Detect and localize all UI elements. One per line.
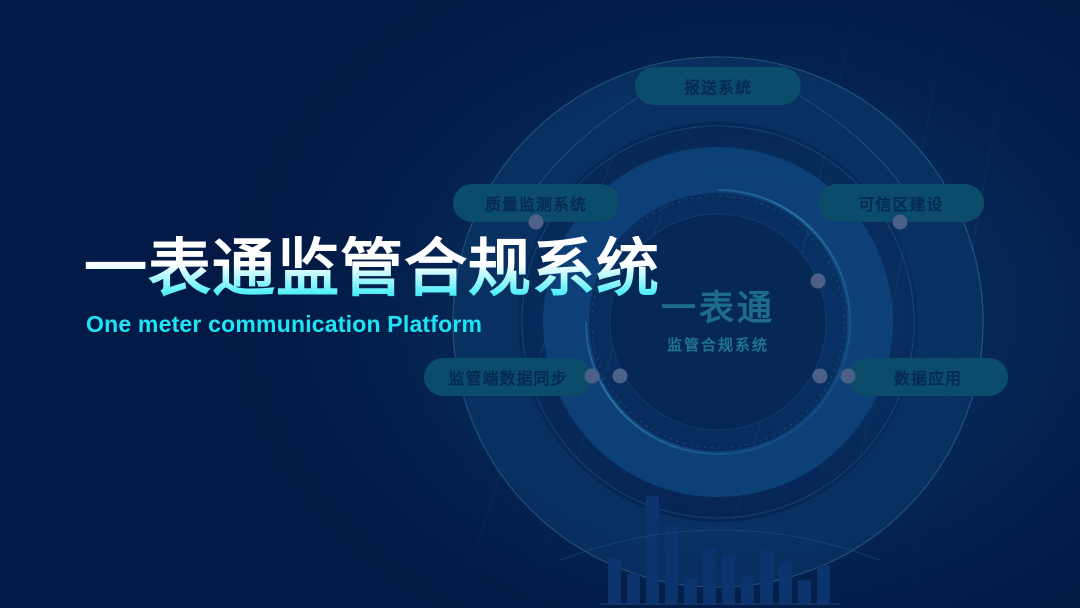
node-regulator-data-sync-label: 监管端数据同步	[448, 365, 567, 389]
page-title: 一表通监管合规系统	[84, 236, 664, 303]
node-quality-monitoring-system-label: 质量监测系统	[485, 191, 587, 215]
slide-canvas: 一表通监管合规系统 One meter communication Platfo…	[0, 0, 1080, 608]
hub-subtitle: 监管合规系统	[608, 338, 828, 353]
node-reporting-system-label: 报送系统	[684, 74, 752, 98]
connector-dot-left-inner	[585, 369, 600, 384]
node-regulator-data-sync[interactable]: 监管端数据同步	[424, 358, 592, 396]
page-subtitle: One meter communication Platform	[86, 311, 664, 338]
connector-dot-upper-right	[811, 274, 826, 289]
connector-dot-trusted	[893, 215, 908, 230]
title-block: 一表通监管合规系统 One meter communication Platfo…	[84, 236, 664, 338]
hub-title: 一表通	[608, 291, 828, 326]
connector-dot-quality	[529, 215, 544, 230]
node-data-application-label: 数据应用	[894, 365, 962, 389]
node-data-application[interactable]: 数据应用	[848, 358, 1008, 396]
connector-dot-right-outer	[841, 369, 856, 384]
connector-dot-left-outer	[613, 369, 628, 384]
connector-dot-right-inner	[813, 369, 828, 384]
node-trusted-zone-construction-label: 可信区建设	[858, 191, 943, 215]
node-reporting-system[interactable]: 报送系统	[635, 67, 801, 105]
hub-label-group: 一表通 监管合规系统	[608, 291, 828, 353]
